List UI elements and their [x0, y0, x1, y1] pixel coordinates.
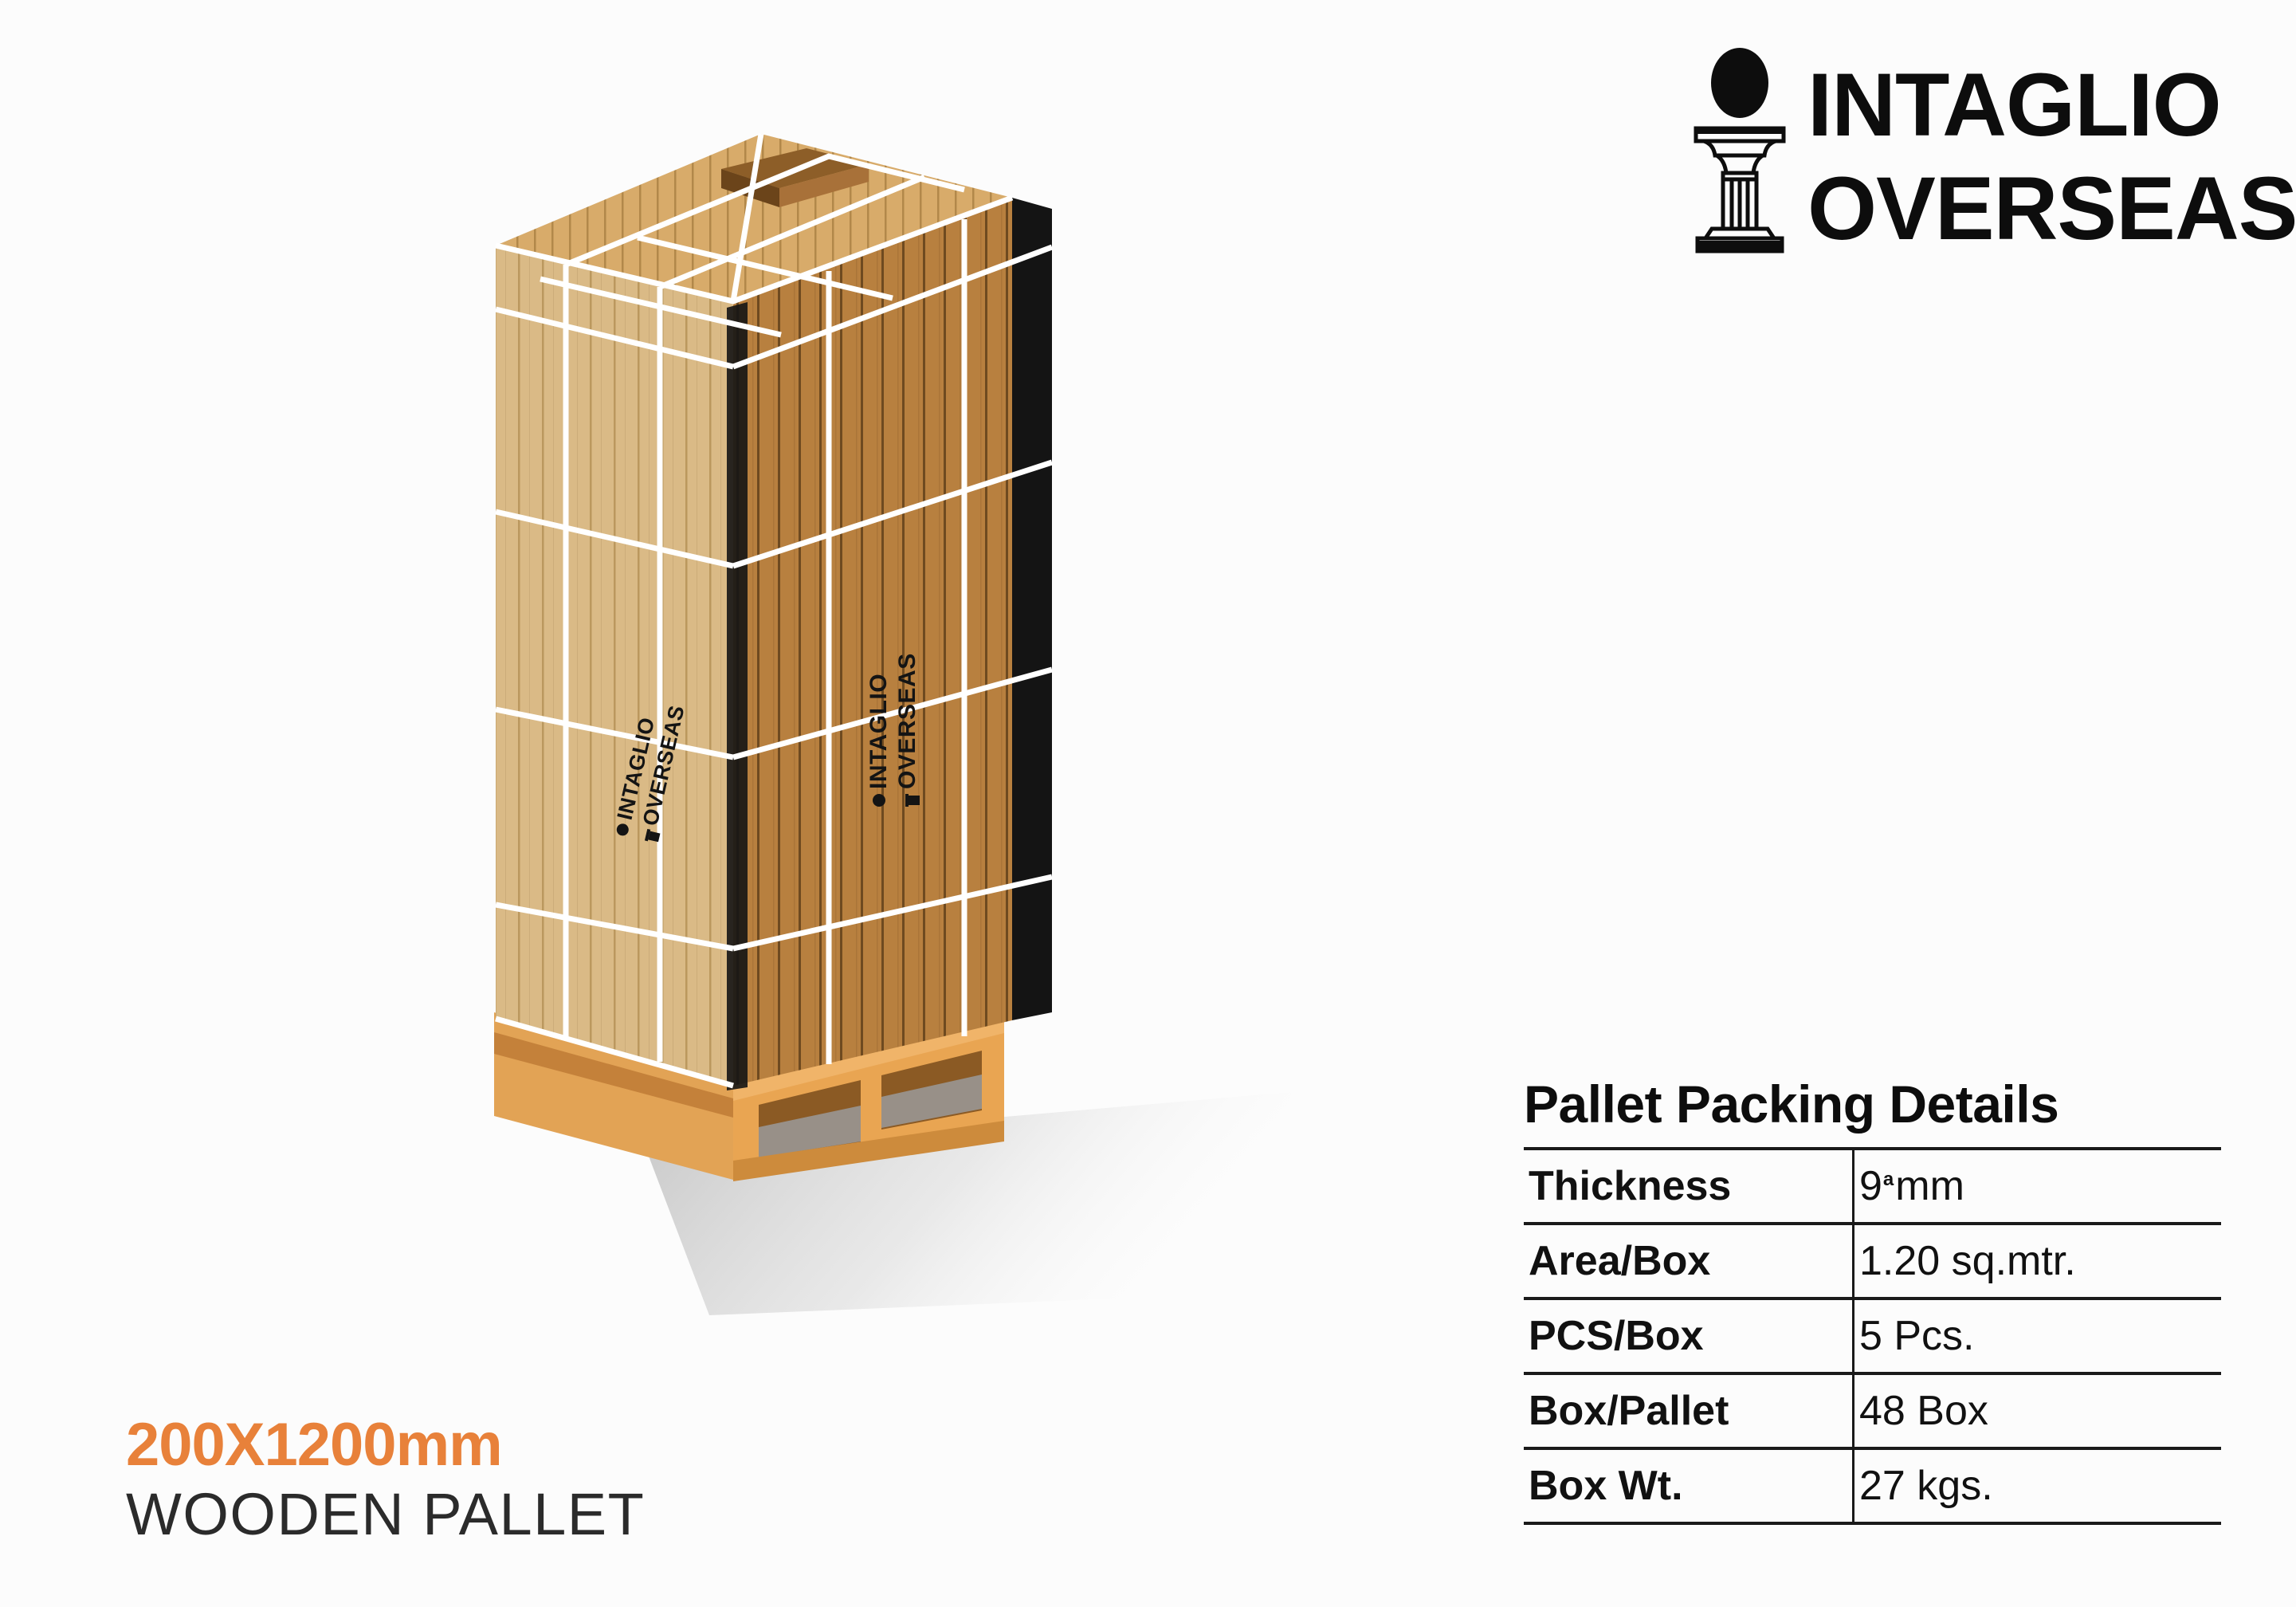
poster-canvas: INTAGLIO OVERSEAS [0, 0, 2296, 1607]
caption-type-label: WOODEN PALLET [126, 1481, 803, 1548]
specs-table: Thickness 9amm Area/Box 1.20 sq.mtr. PCS… [1524, 1147, 2221, 1525]
brand-line-intaglio: INTAGLIO [1807, 61, 2238, 150]
table-row: Box/Pallet 48 Box [1524, 1373, 2221, 1448]
brand-line-overseas: OVERSEAS [1807, 164, 2238, 253]
brand-wordmark: INTAGLIO OVERSEAS [1807, 61, 2238, 253]
spec-value-thickness: 9amm [1854, 1149, 2222, 1224]
spec-value-area-per-box: 1.20 sq.mtr. [1854, 1224, 2222, 1299]
specs-title: Pallet Packing Details [1524, 1072, 2209, 1136]
spec-label-pcs-per-box: PCS/Box [1524, 1299, 1854, 1373]
svg-text:INTAGLIO: INTAGLIO [865, 674, 892, 789]
svg-text:OVERSEAS: OVERSEAS [894, 653, 920, 789]
table-row: Area/Box 1.20 sq.mtr. [1524, 1224, 2221, 1299]
pallet-packing-details-panel: Pallet Packing Details Thickness 9amm Ar… [1524, 1072, 2209, 1525]
specs-table-body: Thickness 9amm Area/Box 1.20 sq.mtr. PCS… [1524, 1149, 2221, 1523]
spec-label-area-per-box: Area/Box [1524, 1224, 1854, 1299]
product-caption: 200X1200mm WOODEN PALLET [126, 1413, 803, 1548]
classical-column-pillar-icon [1688, 46, 1792, 253]
spec-label-box-per-pallet: Box/Pallet [1524, 1373, 1854, 1448]
table-row: Thickness 9amm [1524, 1149, 2221, 1224]
brand-logo: INTAGLIO OVERSEAS [1688, 46, 2238, 253]
pallet-left-face [496, 246, 733, 1086]
spec-label-thickness: Thickness [1524, 1149, 1854, 1224]
wooden-pallet-photo: INTAGLIO OVERSEAS INTAGLIO OVERSEAS [446, 120, 1291, 1363]
table-row: PCS/Box 5 Pcs. [1524, 1299, 2221, 1373]
table-row: Box Wt. 27 kgs. [1524, 1448, 2221, 1523]
thickness-number: 9 [1859, 1163, 1882, 1209]
thickness-superscript: a [1882, 1169, 1895, 1190]
spec-value-box-weight: 27 kgs. [1854, 1448, 2222, 1523]
caption-size-label: 200X1200mm [126, 1413, 803, 1478]
thickness-unit: mm [1895, 1163, 1964, 1209]
spec-value-pcs-per-box: 5 Pcs. [1854, 1299, 2222, 1373]
spec-value-box-per-pallet: 48 Box [1854, 1373, 2222, 1448]
spec-label-box-weight: Box Wt. [1524, 1448, 1854, 1523]
